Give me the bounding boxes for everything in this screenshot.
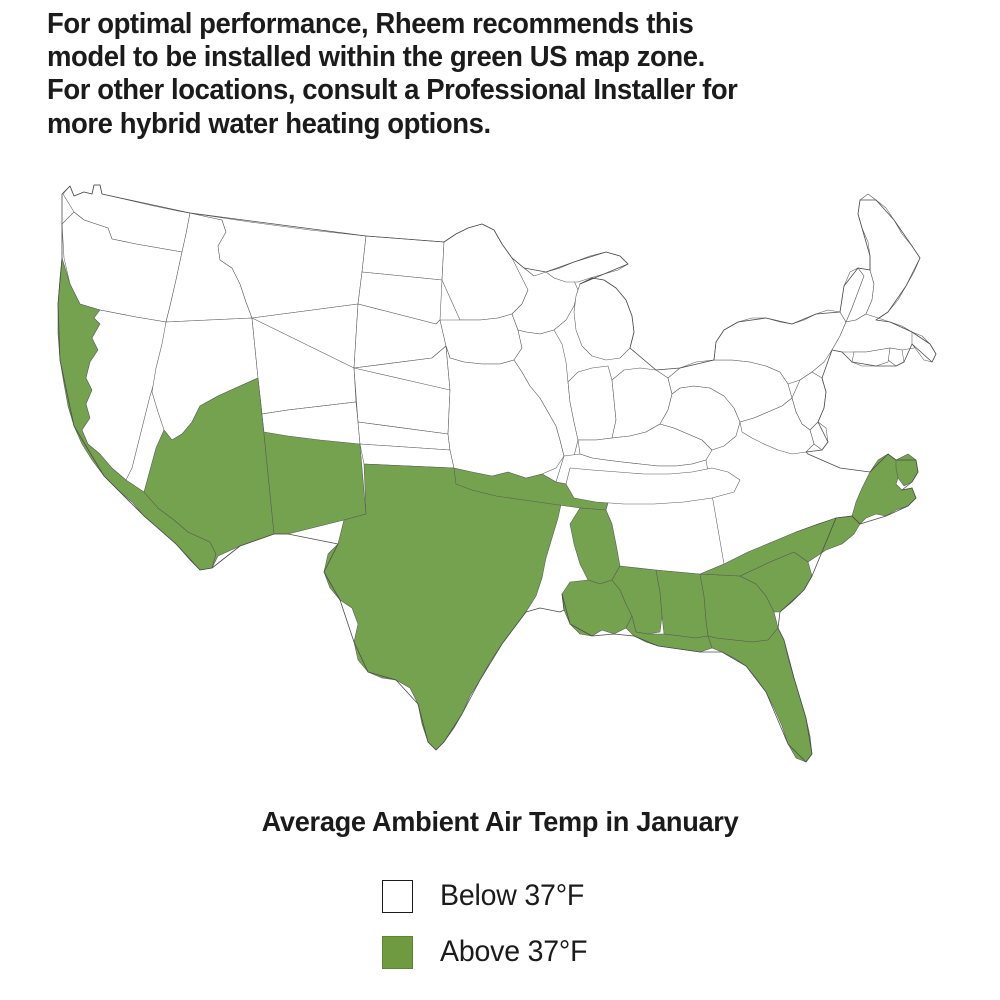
us-map-svg xyxy=(40,172,960,782)
legend-item-below: Below 37°F xyxy=(382,868,802,924)
legend: Below 37°F Above 37°F xyxy=(382,868,802,980)
page-title: For optimal performance, Rheem recommend… xyxy=(47,8,957,141)
legend-label-above: Above 37°F xyxy=(440,935,587,969)
state-alabama xyxy=(656,570,708,638)
heading-line-3: For other locations, consult a Professio… xyxy=(47,74,925,107)
heading-line-4: more hybrid water heating options. xyxy=(47,108,925,141)
state-michigan-upper xyxy=(546,252,628,282)
state-florida xyxy=(708,628,812,762)
infographic-page: For optimal performance, Rheem recommend… xyxy=(0,0,1000,1000)
legend-item-above: Above 37°F xyxy=(382,924,802,980)
state-maryland-eastern-shore xyxy=(896,454,918,486)
heading-line-1: For optimal performance, Rheem recommend… xyxy=(47,8,925,41)
legend-swatch-green-icon xyxy=(382,936,413,969)
legend-title: Average Ambient Air Temp in January xyxy=(15,806,985,838)
state-iowa xyxy=(440,314,522,364)
us-climate-zone-map xyxy=(40,172,960,782)
legend-label-below: Below 37°F xyxy=(440,879,584,913)
heading-line-2: model to be installed within the green U… xyxy=(47,41,925,74)
legend-swatch-white-icon xyxy=(382,880,413,913)
state-michigan-lower xyxy=(574,278,634,360)
